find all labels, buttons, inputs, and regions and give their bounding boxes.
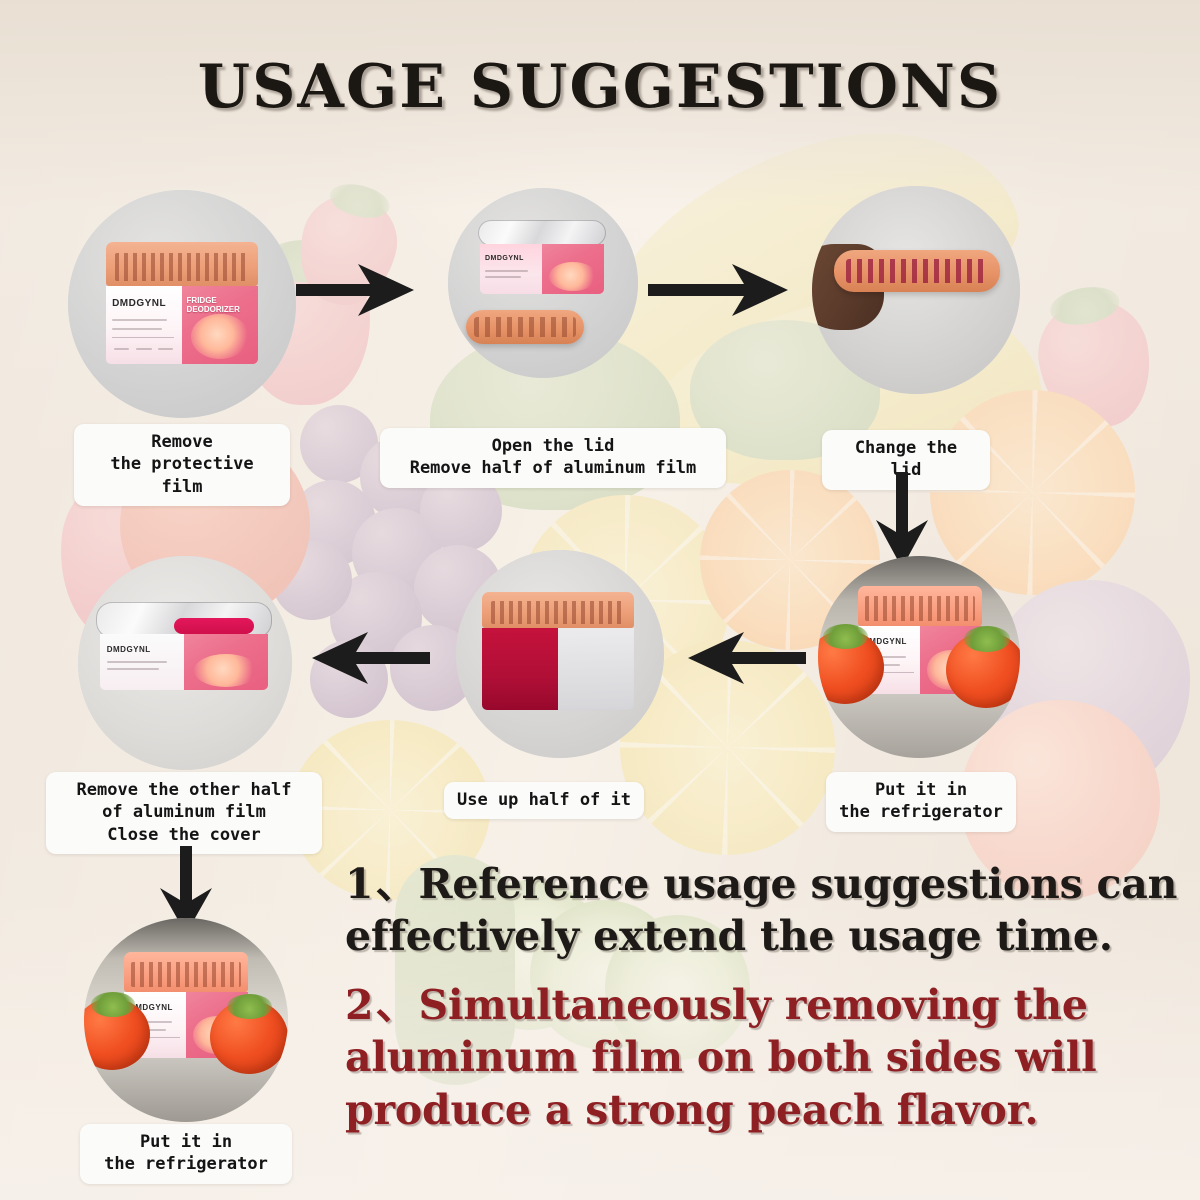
product-body: DMDGYNL FRIDGE DEODORIZER: [106, 286, 258, 364]
product-type-text: FRIDGE DEODORIZER: [187, 297, 240, 315]
arrow-step2-to-step3: [648, 262, 788, 318]
step-4-caption: Put it in the refrigerator: [826, 772, 1016, 832]
product-lid: [834, 250, 1000, 292]
tomato: [946, 632, 1020, 708]
step-5-photo: [456, 550, 664, 758]
step-6-photo: DMDGYNL: [78, 556, 292, 770]
usage-notes: 1、Reference usage suggestions can effect…: [345, 858, 1180, 1136]
usage-note-2-text: Simultaneously removing the aluminum fil…: [345, 981, 1096, 1134]
step-3-photo: [812, 186, 1020, 394]
page-title: USAGE SUGGESTIONS: [0, 52, 1200, 122]
product-brand-text: DMDGYNL: [112, 298, 166, 309]
infographic-page: USAGE SUGGESTIONS DMDGYNL FRIDGE DEODORI…: [0, 0, 1200, 1200]
step-4-photo: DMDGYNL: [818, 556, 1020, 758]
product-brand-text: DMDGYNL: [485, 255, 524, 262]
product-lid: [106, 242, 258, 286]
product-lid: [482, 592, 634, 628]
gel-chamber-empty: [558, 628, 634, 710]
usage-note-1: 1、Reference usage suggestions can effect…: [345, 858, 1180, 963]
product-lid: [858, 586, 982, 626]
step-7-caption: Put it in the refrigerator: [80, 1124, 292, 1184]
usage-note-2: 2、Simultaneously removing the aluminum f…: [345, 979, 1180, 1136]
arrow-step1-to-step2: [296, 262, 414, 318]
arrow-step5-to-step6: [300, 630, 430, 686]
product-lid: [124, 952, 248, 992]
step-1-photo: DMDGYNL FRIDGE DEODORIZER: [68, 190, 296, 418]
step-2-caption: Open the lid Remove half of aluminum fil…: [380, 428, 726, 488]
usage-note-1-number: 1、: [345, 860, 419, 908]
step-1-caption: Remove the protective film: [74, 424, 290, 506]
product-brand-text: DMDGYNL: [107, 645, 151, 654]
gel-chamber-full: [174, 618, 254, 634]
step-7-photo: DMDGYNL: [84, 918, 288, 1122]
usage-note-1-text: Reference usage suggestions can effectiv…: [345, 860, 1177, 960]
arrow-step4-to-step5: [676, 630, 806, 686]
step-2-photo: DMDGYNL: [448, 188, 638, 378]
detached-lid: [466, 310, 584, 344]
step-5-caption: Use up half of it: [444, 782, 644, 819]
step-6-caption: Remove the other half of aluminum film C…: [46, 772, 322, 854]
tomato: [210, 1000, 288, 1074]
arrow-step3-to-step4: [874, 472, 930, 568]
usage-note-2-number: 2、: [345, 981, 419, 1029]
gel-chamber-full: [482, 628, 558, 710]
aluminum-film: [478, 220, 606, 246]
